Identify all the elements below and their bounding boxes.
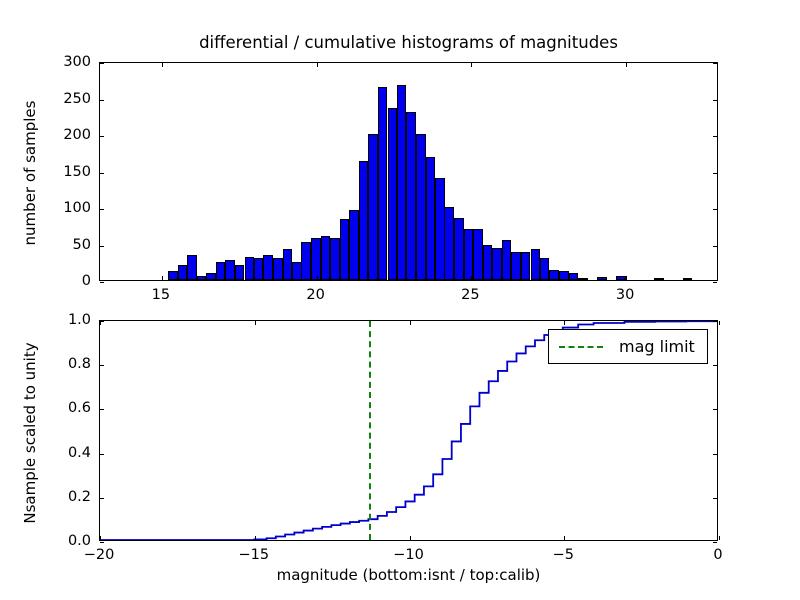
histogram-bar: [263, 255, 273, 280]
top-xtick-mark-top: [626, 63, 627, 67]
histogram-bar: [406, 112, 416, 280]
bottom-ytick-mark: [100, 454, 104, 455]
bottom-xtick-mark-top: [100, 321, 101, 325]
histogram-bar: [216, 262, 226, 280]
top-ytick-mark: [100, 209, 104, 210]
histogram-bar: [559, 271, 569, 280]
histogram-bar: [616, 276, 626, 280]
top-xtick-mark-top: [471, 63, 472, 67]
histogram-bar: [340, 219, 350, 280]
bottom-xtick-mark-top: [564, 321, 565, 325]
histogram-bar: [368, 134, 378, 280]
top-ytick-mark-right: [713, 63, 717, 64]
bottom-xtick-mark: [719, 536, 720, 540]
histogram-bar: [426, 157, 436, 280]
top-axis-ylabel: number of samples: [21, 43, 39, 303]
histogram-bar: [178, 265, 188, 280]
histogram-bar: [473, 229, 483, 280]
histogram-bar: [254, 258, 264, 280]
histogram-bar: [502, 240, 512, 280]
bottom-ytick-mark: [100, 365, 104, 366]
histogram-bar: [197, 276, 207, 280]
top-xtick-mark-top: [317, 63, 318, 67]
bottom-ytick-0.8: 0.8: [68, 356, 91, 372]
top-ytick-mark-right: [713, 173, 717, 174]
histogram-bar: [292, 262, 302, 280]
histogram-bar: [206, 273, 216, 280]
histogram-bar: [531, 249, 541, 280]
bottom-xtick-mark: [100, 536, 101, 540]
bottom-ytick-0.4: 0.4: [68, 445, 91, 461]
page-title: differential / cumulative histograms of …: [99, 33, 718, 52]
top-xtick-mark: [162, 276, 163, 280]
bottom-xtick-mark-top: [719, 321, 720, 325]
top-axis-xtick-labels: 15202530: [99, 287, 718, 309]
bottom-ytick-mark-right: [713, 454, 717, 455]
top-ytick-50: 50: [73, 237, 91, 253]
histogram-bar: [521, 252, 531, 280]
bottom-ytick-mark-right: [713, 321, 717, 322]
histogram-bar: [483, 245, 493, 280]
histogram-bar: [311, 238, 321, 280]
top-ytick-mark: [100, 282, 104, 283]
histogram-bar: [654, 278, 664, 280]
histogram-bar: [225, 260, 235, 280]
histogram-bar: [464, 229, 474, 280]
histogram-bar: [187, 255, 197, 280]
histogram-bar: [235, 265, 245, 280]
cumulative-histogram-plot: mag limit: [99, 320, 718, 541]
top-ytick-mark-right: [713, 246, 717, 247]
top-ytick-100: 100: [63, 200, 91, 216]
top-ytick-mark-right: [713, 282, 717, 283]
bottom-xtick-mark-top: [410, 321, 411, 325]
legend[interactable]: mag limit: [548, 329, 708, 364]
histogram-bar: [321, 236, 331, 280]
bottom-xtick-1: −15: [238, 547, 269, 563]
bottom-ytick-1.0: 1.0: [68, 312, 91, 328]
bottom-xtick-mark: [410, 536, 411, 540]
histogram-bar: [492, 248, 502, 280]
legend-label-mag-limit: mag limit: [619, 337, 695, 356]
top-ytick-mark: [100, 100, 104, 101]
top-ytick-mark: [100, 136, 104, 137]
bottom-xtick-2: −10: [393, 547, 424, 563]
histogram-bar: [388, 108, 398, 280]
top-xtick-30: 30: [616, 287, 634, 303]
top-ytick-mark: [100, 246, 104, 247]
bottom-ytick-mark: [100, 542, 104, 543]
histogram-bar: [245, 257, 255, 280]
bottom-axis-ytick-labels: 0.00.20.40.60.81.0: [47, 320, 91, 541]
bottom-ytick-mark: [100, 498, 104, 499]
differential-histogram-plot: [99, 62, 718, 281]
histogram-bar: [435, 178, 445, 280]
top-ytick-250: 250: [63, 91, 91, 107]
top-ytick-0: 0: [82, 273, 91, 289]
top-xtick-mark: [626, 276, 627, 280]
histogram-bar: [359, 161, 369, 280]
top-xtick-15: 15: [152, 287, 170, 303]
histogram-bar: [549, 270, 559, 280]
histogram-bar: [378, 87, 388, 280]
figure-canvas: differential / cumulative histograms of …: [0, 0, 800, 600]
histogram-bar: [540, 258, 550, 280]
histogram-bar: [454, 218, 464, 280]
top-ytick-mark-right: [713, 209, 717, 210]
histogram-bar: [444, 207, 454, 280]
top-ytick-mark-right: [713, 100, 717, 101]
top-ytick-300: 300: [63, 54, 91, 70]
bottom-ytick-mark: [100, 409, 104, 410]
bottom-xtick-mark: [255, 536, 256, 540]
top-ytick-mark-right: [713, 136, 717, 137]
top-xtick-20: 20: [306, 287, 324, 303]
top-ytick-mark: [100, 173, 104, 174]
bottom-axis-ylabel: Nsample scaled to unity: [21, 303, 39, 563]
bottom-ytick-0.2: 0.2: [68, 489, 91, 505]
histogram-bar: [349, 210, 359, 280]
top-ytick-150: 150: [63, 164, 91, 180]
bottom-xtick-mark-top: [255, 321, 256, 325]
histogram-bar: [168, 271, 178, 280]
histogram-bar: [683, 278, 693, 280]
histogram-bar: [569, 273, 579, 280]
bottom-ytick-mark-right: [713, 365, 717, 366]
top-ytick-200: 200: [63, 127, 91, 143]
histogram-bar: [397, 85, 407, 280]
bottom-ytick-mark-right: [713, 409, 717, 410]
bottom-xtick-mark: [564, 536, 565, 540]
bottom-ytick-0.6: 0.6: [68, 400, 91, 416]
histogram-bar: [301, 242, 311, 280]
histogram-bar: [273, 258, 283, 280]
histogram-bar: [416, 134, 426, 280]
top-xtick-mark-top: [162, 63, 163, 67]
histogram-bar: [511, 252, 521, 280]
histogram-bar: [330, 238, 340, 280]
mag-limit-vline: [369, 321, 371, 540]
top-axis-ytick-labels: 050100150200250300: [47, 62, 91, 281]
bottom-axis-xlabel: magnitude (bottom:isnt / top:calib): [99, 566, 718, 584]
histogram-bars-layer: [100, 63, 717, 280]
top-ytick-mark: [100, 63, 104, 64]
top-xtick-mark: [317, 276, 318, 280]
histogram-bar: [597, 277, 607, 280]
mag-limit-legend-swatch-icon: [559, 346, 603, 348]
bottom-xtick-4: 0: [713, 547, 722, 563]
histogram-bar: [283, 249, 293, 280]
histogram-bar: [578, 278, 588, 280]
bottom-xtick-3: −5: [553, 547, 574, 563]
top-xtick-mark: [471, 276, 472, 280]
bottom-ytick-mark-right: [713, 542, 717, 543]
bottom-ytick-mark-right: [713, 498, 717, 499]
bottom-xtick-0: −20: [84, 547, 115, 563]
top-xtick-25: 25: [461, 287, 479, 303]
